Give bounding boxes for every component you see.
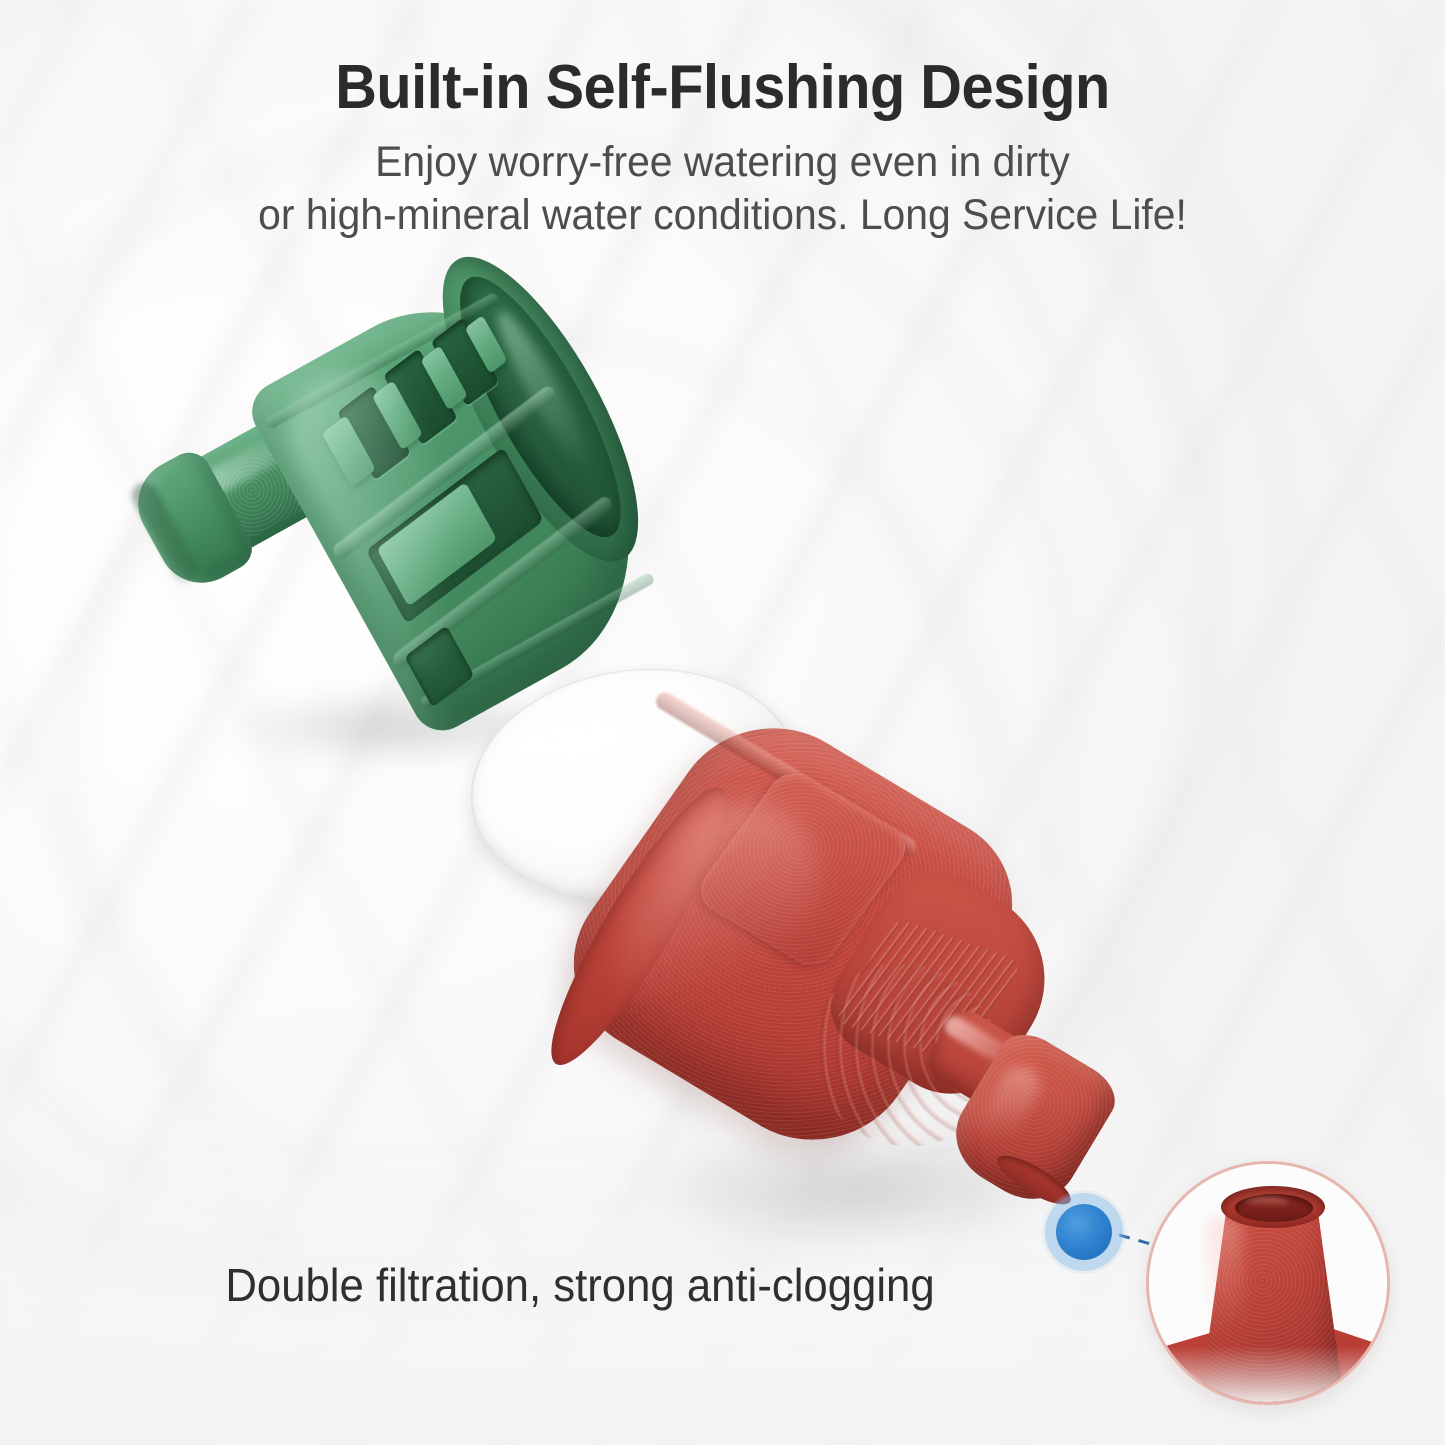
page-title: Built-in Self-Flushing Design — [51, 52, 1395, 123]
magnifier-circle — [1146, 1161, 1390, 1405]
feature-caption: Double filtration, strong anti-clogging — [29, 1258, 1131, 1312]
page-subtitle-line-1: Enjoy worry-free watering even in dirty — [36, 136, 1409, 189]
page-subtitle: Enjoy worry-free watering even in dirty … — [36, 136, 1409, 243]
callout-marker-dot — [1056, 1204, 1112, 1260]
magnifier-floor-gradient — [1149, 1346, 1387, 1402]
infographic-canvas: Built-in Self-Flushing Design Enjoy worr… — [0, 0, 1445, 1445]
red-dripper-body — [600, 735, 1160, 1275]
magnifier-outlet-hole-highlight — [1245, 1197, 1289, 1207]
page-subtitle-line-2: or high-mineral water conditions. Long S… — [36, 189, 1409, 242]
